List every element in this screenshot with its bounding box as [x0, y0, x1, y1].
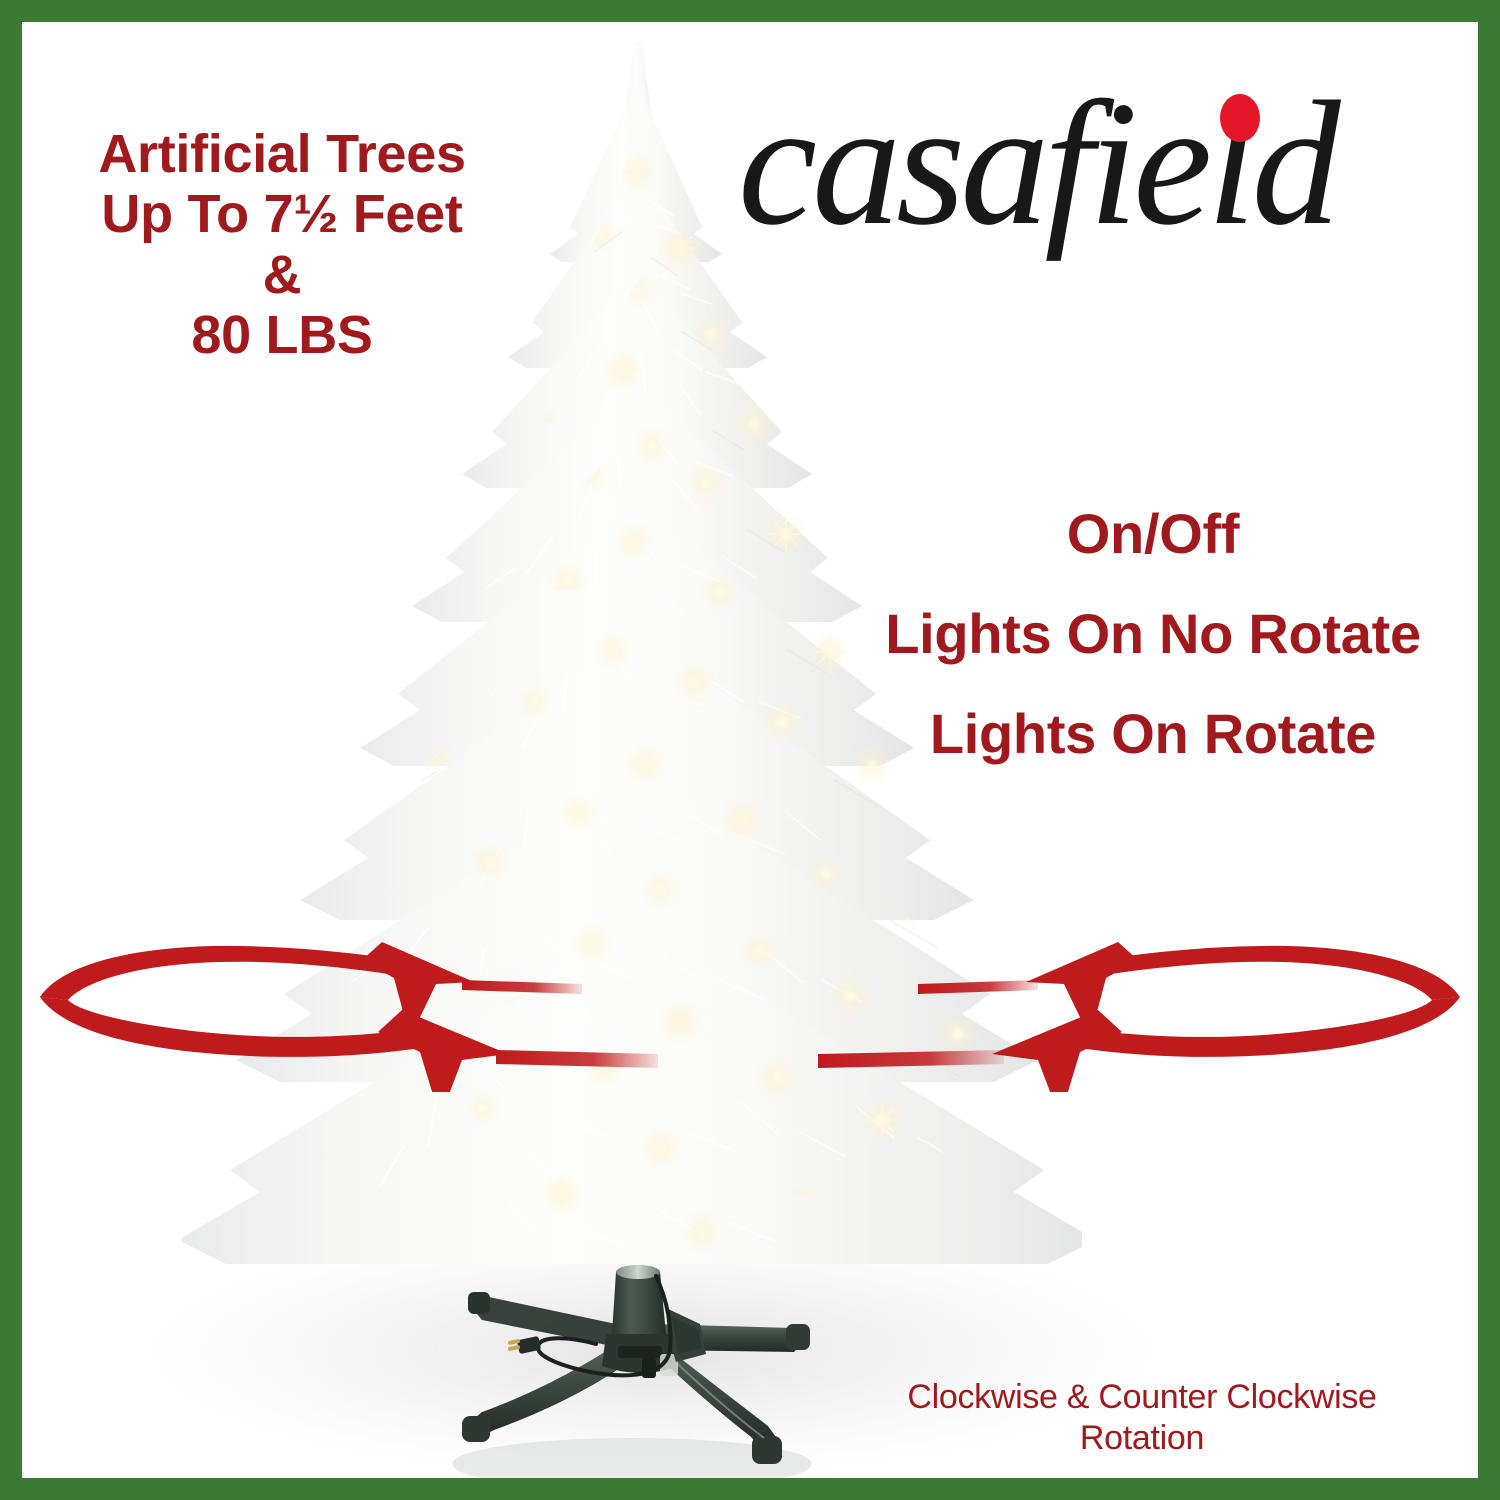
- headline-line-2: Up To 7½ Feet: [52, 184, 512, 244]
- image-canvas: Artificial Trees Up To 7½ Feet & 80 LBS …: [22, 22, 1478, 1478]
- rotation-caption: Clockwise & Counter Clockwise Rotation: [812, 1377, 1472, 1460]
- headline-ampersand: &: [52, 245, 512, 305]
- casafield-logo: casafield: [738, 74, 1478, 259]
- feature-on-off: On/Off: [848, 506, 1458, 562]
- headline-line-1: Artificial Trees: [52, 124, 512, 184]
- power-cord-plug-icon: [508, 1336, 541, 1354]
- feature-lights-on-rotate: Lights On Rotate: [848, 706, 1458, 762]
- headline-line-3: 80 LBS: [52, 305, 512, 365]
- frame-border-top: [0, 0, 1500, 22]
- frame-border-left: [0, 0, 22, 1500]
- features-block: On/Off Lights On No Rotate Lights On Rot…: [848, 506, 1458, 762]
- rotating-tree-stand-image: [420, 1250, 840, 1478]
- feature-lights-on-no-rotate: Lights On No Rotate: [848, 606, 1458, 662]
- frame-border-bottom: [0, 1478, 1500, 1500]
- frame-border-right: [1478, 0, 1500, 1500]
- red-dot-tittle-icon: [1220, 94, 1260, 142]
- caption-line-1: Clockwise & Counter Clockwise: [812, 1377, 1472, 1418]
- product-marketing-image: Artificial Trees Up To 7½ Feet & 80 LBS …: [0, 0, 1500, 1500]
- headline-block: Artificial Trees Up To 7½ Feet & 80 LBS: [52, 124, 512, 366]
- caption-line-2: Rotation: [812, 1418, 1472, 1459]
